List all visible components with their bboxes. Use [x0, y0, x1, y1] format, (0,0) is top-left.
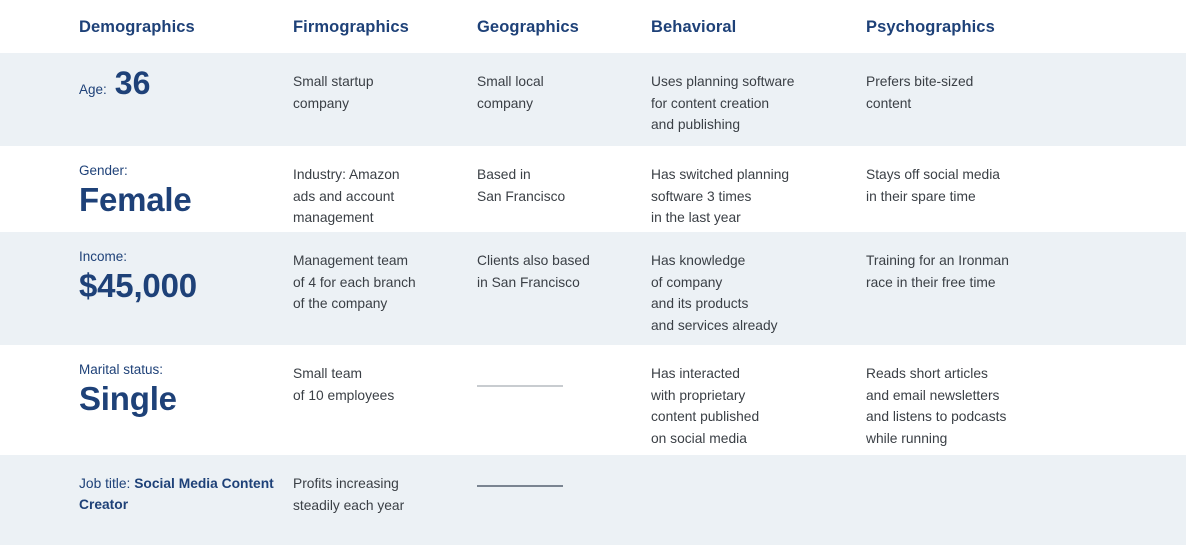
column-header-psychographics: Psychographics: [866, 17, 1186, 36]
persona-segmentation-table: Demographics Firmographics Geographics B…: [0, 0, 1186, 545]
cell-demographics: Age: 36: [79, 53, 293, 99]
empty-value-dash: [477, 485, 563, 487]
demographic-value: 36: [115, 67, 151, 99]
cell-demographics: Gender: Female: [79, 146, 293, 220]
table-row: Marital status: Single Small team of 10 …: [0, 345, 1186, 455]
cell-geographics: Clients also based in San Francisco: [477, 232, 651, 293]
cell-behavioral: Uses planning software for content creat…: [651, 53, 866, 136]
cell-psychographics: Stays off social media in their spare ti…: [866, 146, 1186, 207]
cell-psychographics: [866, 455, 1186, 473]
demographic-inline-value: Age: 36: [79, 53, 275, 99]
column-header-behavioral: Behavioral: [651, 17, 866, 36]
cell-psychographics: Reads short articles and email newslette…: [866, 345, 1186, 449]
demographic-stacked-value: Gender: Female: [79, 146, 275, 220]
cell-demographics: Income: $45,000: [79, 232, 293, 306]
demographic-stacked-value: Marital status: Single: [79, 345, 275, 419]
column-header-firmographics: Firmographics: [293, 17, 477, 36]
cell-behavioral: Has interacted with proprietary content …: [651, 345, 866, 449]
demographic-label: Income:: [79, 248, 275, 266]
table-row: Income: $45,000 Management team of 4 for…: [0, 232, 1186, 345]
table-row: Job title: Social Media Content Creator …: [0, 455, 1186, 545]
table-row: Gender: Female Industry: Amazon ads and …: [0, 146, 1186, 232]
cell-geographics: Based in San Francisco: [477, 146, 651, 207]
demographic-label: Gender:: [79, 162, 275, 180]
cell-psychographics: Training for an Ironman race in their fr…: [866, 232, 1186, 293]
cell-firmographics: Industry: Amazon ads and account managem…: [293, 146, 477, 229]
cell-demographics: Job title: Social Media Content Creator: [79, 455, 293, 516]
demographic-label: Marital status:: [79, 361, 275, 379]
demographic-stacked-value: Income: $45,000: [79, 232, 275, 306]
cell-geographics: [477, 345, 651, 387]
cell-behavioral: Has knowledge of company and its product…: [651, 232, 866, 336]
demographic-value: Single: [79, 380, 275, 419]
cell-geographics: Small local company: [477, 53, 651, 114]
demographic-label: Age:: [79, 82, 107, 97]
cell-behavioral: Has switched planning software 3 times i…: [651, 146, 866, 229]
column-header-demographics: Demographics: [79, 17, 293, 36]
cell-demographics: Marital status: Single: [79, 345, 293, 419]
empty-value-dash: [477, 385, 563, 387]
cell-firmographics: Management team of 4 for each branch of …: [293, 232, 477, 315]
cell-firmographics: Small team of 10 employees: [293, 345, 477, 406]
cell-geographics: [477, 455, 651, 487]
cell-psychographics: Prefers bite-sized content: [866, 53, 1186, 114]
table-row: Age: 36 Small startup company Small loca…: [0, 53, 1186, 146]
demographic-label: Job title:: [79, 476, 130, 491]
demographic-jobtitle: Job title: Social Media Content Creator: [79, 455, 275, 516]
demographic-value: $45,000: [79, 267, 275, 306]
cell-firmographics: Profits increasing steadily each year: [293, 455, 477, 516]
cell-behavioral: [651, 455, 866, 473]
cell-firmographics: Small startup company: [293, 53, 477, 114]
column-header-geographics: Geographics: [477, 17, 651, 36]
table-header-row: Demographics Firmographics Geographics B…: [0, 0, 1186, 53]
demographic-value: Female: [79, 181, 275, 220]
